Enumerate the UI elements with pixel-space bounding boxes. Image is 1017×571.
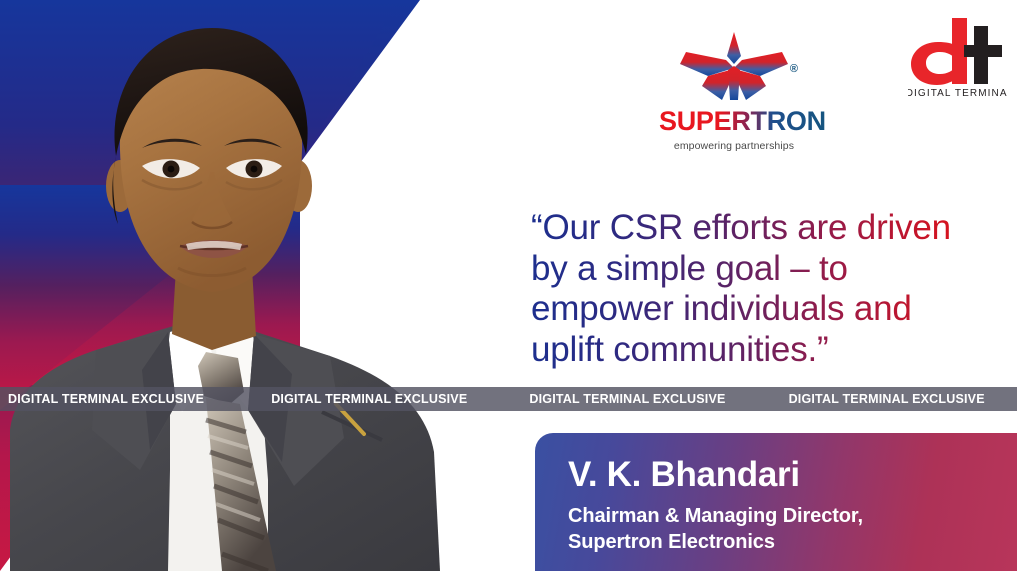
exclusive-label: DIGITAL TERMINAL EXCLUSIVE <box>789 392 985 406</box>
dt-logo-d-bowl <box>911 42 956 85</box>
portrait-photo <box>0 0 470 571</box>
exclusive-label: DIGITAL TERMINAL EXCLUSIVE <box>529 392 725 406</box>
quote-line-4: uplift communities.” <box>531 330 1001 371</box>
digital-terminal-logo: DIGITAL TERMINAL <box>908 16 1008 100</box>
speaker-title-line-1: Chairman & Managing Director, <box>568 503 1017 529</box>
exclusive-label: DIGITAL TERMINAL EXCLUSIVE <box>271 392 467 406</box>
quote-line-3: empower individuals and <box>531 289 1001 330</box>
supertron-tagline: empowering partnerships <box>659 140 809 152</box>
quote-text: “Our CSR efforts are driven by a simple … <box>531 208 1001 370</box>
registered-mark-icon: ® <box>790 64 798 75</box>
quote-line-1: “Our CSR efforts are driven <box>531 208 1001 249</box>
exclusive-banner-strip: DIGITAL TERMINAL EXCLUSIVE DIGITAL TERMI… <box>0 387 1017 411</box>
supertron-logo: SUPERTRON ® empowering partnerships <box>659 30 809 165</box>
exclusive-label: DIGITAL TERMINAL EXCLUSIVE <box>8 392 204 406</box>
supertron-wordmark: SUPERTRON <box>659 108 826 135</box>
dt-logo-caption: DIGITAL TERMINAL <box>908 88 1008 99</box>
speaker-name: V. K. Bhandari <box>568 457 1017 494</box>
quote-card: SUPERTRON ® empowering partnerships DIGI… <box>0 0 1017 571</box>
speaker-title-line-2: Supertron Electronics <box>568 529 1017 555</box>
quote-line-2: by a simple goal – to <box>531 249 1001 290</box>
speaker-name-panel: V. K. Bhandari Chairman & Managing Direc… <box>535 433 1017 571</box>
supertron-star-icon <box>678 30 790 102</box>
dt-logo-t-bar <box>964 45 1002 57</box>
speaker-title: Chairman & Managing Director, Supertron … <box>568 503 1017 555</box>
